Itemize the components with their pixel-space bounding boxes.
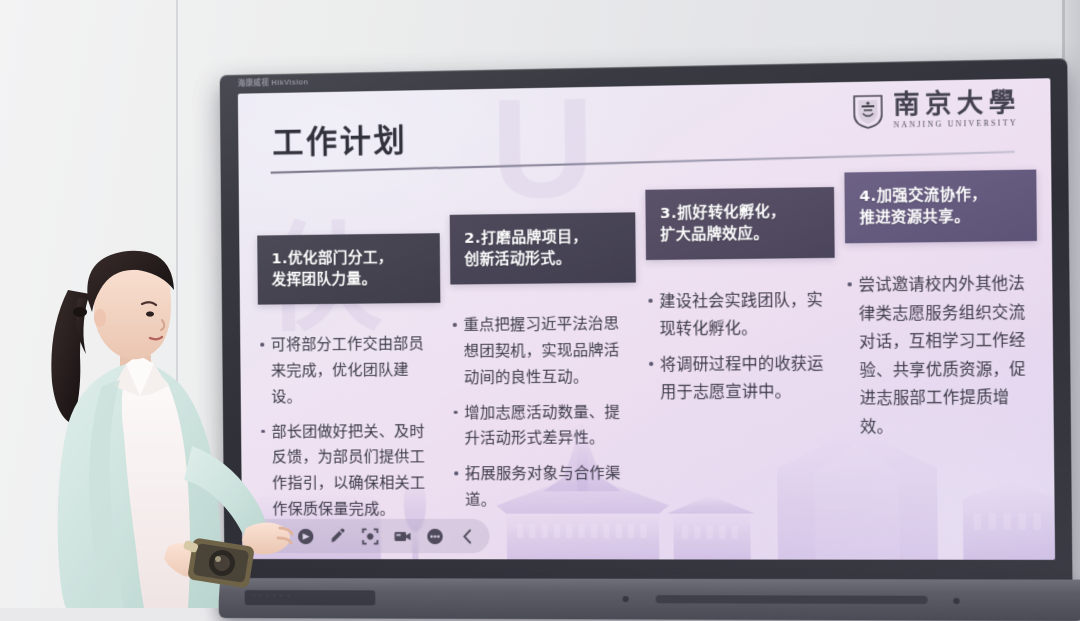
list-item: 拓展服务对象与合作渠道。 — [454, 461, 632, 514]
speaker-grille — [656, 595, 928, 604]
display-brand-label: 海康威视 HikVision — [238, 76, 309, 88]
bullet-text: 拓展服务对象与合作渠道。 — [465, 461, 632, 514]
chin-port-left — [622, 596, 628, 602]
bullet-dot-icon — [454, 471, 458, 475]
column-2-body: 重点把握习近平法治思想团契机，实现品牌活动间的良性互动。 增加志愿活动数量、提升… — [451, 311, 639, 522]
work-plan-columns: 1.优化部门分工，发挥团队力量。 可将部分工作交由部员来完成，优化团队建设。 部… — [257, 170, 1040, 517]
bullet-text: 将调研过程中的收获运用于志愿宣讲中。 — [660, 351, 830, 407]
bullet-dot-icon — [453, 323, 457, 327]
list-item: 可将部分工作交由部员来完成，优化团队建设。 — [260, 331, 435, 410]
bullet-text: 增加志愿活动数量、提升活动形式差异性。 — [464, 399, 631, 452]
plan-column-4: 4.加强交流协作，推进资源共享。 尝试邀请校内外其他法律类志愿服务组织交流对话，… — [844, 170, 1039, 517]
annotate-circle-icon[interactable] — [295, 525, 316, 546]
bullet-dot-icon — [261, 429, 265, 433]
eraser-icon[interactable] — [327, 525, 348, 546]
page-title: 工作计划 — [272, 115, 407, 163]
logo-chinese-name: 南京大學 — [893, 89, 1021, 118]
chin-port-right — [953, 598, 959, 604]
plan-column-1: 1.优化部门分工，发挥团队力量。 可将部分工作交由部员来完成，优化团队建设。 部… — [257, 179, 443, 517]
list-item: 建设社会实践团队，实现转化孵化。 — [648, 287, 829, 343]
plan-column-3: 3.抓好转化孵化，扩大品牌效应。 建设社会实践团队，实现转化孵化。 将调研过程中… — [645, 173, 837, 517]
camera-icon[interactable] — [392, 525, 413, 546]
list-item: 尝试邀请校内外其他法律类志愿服务组织交流对话，互相学习工作经验、共享优质资源，促… — [847, 270, 1032, 442]
bullet-text: 尝试邀请校内外其他法律类志愿服务组织交流对话，互相学习工作经验、共享优质资源，促… — [859, 270, 1033, 442]
presentation-slide: 伙 U — [238, 78, 1055, 560]
interactive-display: 海康威视 HikVision 伙 U — [219, 0, 1075, 611]
bullet-dot-icon — [649, 362, 653, 366]
nanjing-university-crest-icon — [852, 93, 884, 129]
logo-english-name: NANJING UNIVERSITY — [893, 118, 1017, 129]
list-item: 重点把握习近平法治思想团契机，实现品牌活动间的良性互动。 — [453, 311, 631, 391]
university-logo: 南京大學 NANJING UNIVERSITY — [852, 89, 1021, 130]
pen-tool-icon[interactable] — [263, 525, 284, 546]
bullet-text: 可将部分工作交由部员来完成，优化团队建设。 — [271, 331, 436, 410]
bullet-dot-icon — [260, 343, 264, 347]
bullet-dot-icon — [848, 282, 852, 286]
bullet-text: 部长团做好把关、及时反馈，为部员们提供工作指引，以确保相关工作保质保量完成。 — [271, 418, 436, 522]
wall-seam-left — [176, 0, 178, 608]
list-item: 将调研过程中的收获运用于志愿宣讲中。 — [649, 351, 830, 407]
column-3-header: 3.抓好转化孵化，扩大品牌效应。 — [645, 187, 834, 260]
annotation-toolbar[interactable] — [252, 519, 490, 553]
list-item: 增加志愿活动数量、提升活动形式差异性。 — [454, 399, 632, 452]
bullet-dot-icon — [648, 299, 652, 303]
list-item: 部长团做好把关、及时反馈，为部员们提供工作指引，以确保相关工作保质保量完成。 — [261, 418, 436, 522]
column-3-body: 建设社会实践团队，实现转化孵化。 将调研过程中的收获运用于志愿宣讲中。 — [646, 287, 836, 416]
display-chin-bezel: · · · · · · — [219, 578, 1080, 621]
column-4-header: 4.加强交流协作，推进资源共享。 — [844, 170, 1037, 244]
column-2-header: 2.打磨品牌项目，创新活动形式。 — [450, 212, 636, 284]
chin-port-label: · · · · · · — [253, 593, 291, 599]
column-1-header: 1.优化部门分工，发挥团队力量。 — [257, 233, 440, 305]
more-options-icon[interactable] — [424, 525, 446, 546]
plan-column-2: 2.打磨品牌项目，创新活动形式。 重点把握习近平法治思想团契机，实现品牌活动间的… — [449, 176, 638, 517]
column-4-body: 尝试邀请校内外其他法律类志愿服务组织交流对话，互相学习工作经验、共享优质资源，促… — [845, 270, 1039, 451]
collapse-left-icon[interactable] — [457, 525, 479, 546]
bullet-text: 建设社会实践团队，实现转化孵化。 — [659, 287, 829, 343]
display-bezel: 海康威视 HikVision 伙 U — [220, 58, 1073, 597]
screenshot-frame-icon[interactable] — [359, 525, 380, 546]
bullet-dot-icon — [454, 410, 458, 414]
column-1-body: 可将部分工作交由部员来完成，优化团队建设。 部长团做好把关、及时反馈，为部员们提… — [258, 331, 442, 531]
bullet-text: 重点把握习近平法治思想团契机，实现品牌活动间的良性互动。 — [463, 311, 630, 391]
